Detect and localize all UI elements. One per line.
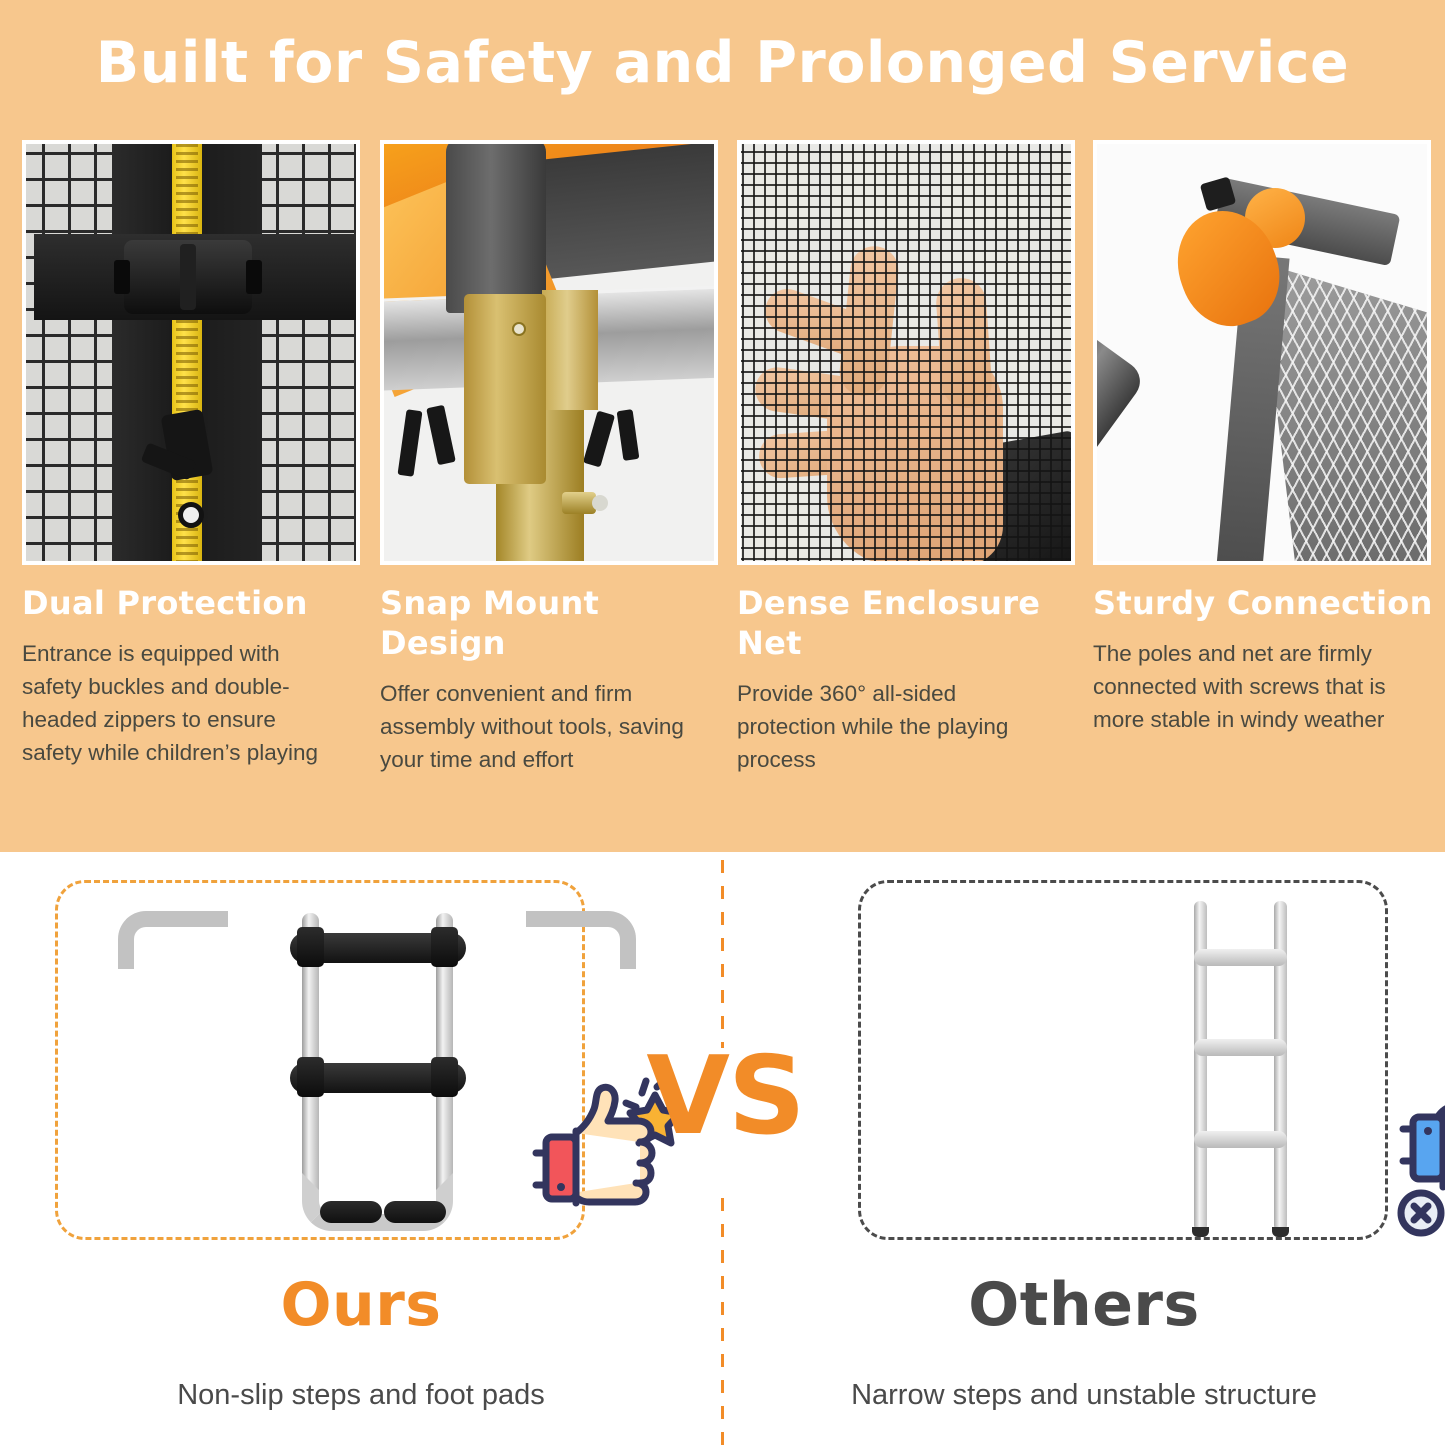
snap-bracket-back (542, 290, 598, 410)
thumbs-down-icon (1391, 1095, 1445, 1245)
ladder-foot-cap (1192, 1227, 1209, 1237)
feature-body: Offer convenient and firm assembly witho… (380, 677, 698, 776)
feature-photo-dense-net (737, 140, 1075, 565)
narrow-rung (1194, 949, 1287, 966)
others-caption: Narrow steps and unstable structure (723, 1379, 1445, 1412)
feature-body: Entrance is equipped with safety buckles… (22, 637, 340, 769)
bracket-screw (512, 322, 526, 336)
feature-card-dual-protection: Dual Protection Entrance is equipped wit… (22, 140, 367, 769)
safety-buckle (124, 240, 252, 314)
foam-pole-sleeve (446, 144, 546, 313)
trampoline-frame-arm-left (118, 911, 228, 969)
feature-card-snap-mount-design: Snap Mount Design Offer convenient and f… (380, 140, 725, 776)
feature-body: Provide 360° all-sided protection while … (737, 677, 1055, 776)
foot-pad (384, 1201, 446, 1223)
feature-photo-sturdy-connection (1093, 140, 1431, 565)
zipper-pull-hole (178, 502, 204, 528)
step-clamp (297, 1057, 324, 1097)
dense-mesh-pattern (741, 144, 1071, 561)
others-ladder-illustration (1156, 901, 1326, 1256)
ours-caption: Non-slip steps and foot pads (0, 1379, 722, 1412)
page-title: Built for Safety and Prolonged Service (0, 34, 1445, 94)
ours-ladder-illustration (248, 901, 508, 1256)
feature-title: Sturdy Connection (1093, 583, 1438, 623)
feature-title: Dense Enclosure Net (737, 583, 1082, 663)
narrow-rung (1194, 1131, 1287, 1148)
locking-bolt (562, 492, 596, 514)
ours-illustration-frame (55, 880, 585, 1240)
comparison-side-ours: VS Ours Non-slip steps and foot pads (0, 852, 722, 1445)
buckle-notch (180, 244, 196, 310)
narrow-rung (1194, 1039, 1287, 1056)
others-label: Others (723, 1270, 1445, 1340)
comparison-panel: VS Ours Non-slip steps and foot pads (0, 852, 1445, 1445)
feature-photo-snap-mount (380, 140, 718, 565)
step-clamp (297, 927, 324, 967)
zipper-teeth (176, 144, 198, 561)
feature-card-sturdy-connection: Sturdy Connection The poles and net are … (1093, 140, 1438, 736)
foot-pad (320, 1201, 382, 1223)
ladder-foot-cap (1272, 1227, 1289, 1237)
features-panel: Built for Safety and Prolonged Service (0, 0, 1445, 852)
infographic-page: Built for Safety and Prolonged Service (0, 0, 1445, 1445)
step-clamp (431, 927, 458, 967)
feature-photo-dual-protection (22, 140, 360, 565)
feature-card-dense-enclosure-net: Dense Enclosure Net Provide 360° all-sid… (737, 140, 1082, 776)
step-clamp (431, 1057, 458, 1097)
trampoline-frame-arm-right (526, 911, 636, 969)
feature-title: Dual Protection (22, 583, 367, 623)
feature-title: Snap Mount Design (380, 583, 725, 663)
comparison-side-others: Others Narrow steps and unstable structu… (723, 852, 1445, 1445)
ours-label: Ours (0, 1270, 722, 1340)
pad-underside (534, 144, 714, 281)
others-illustration-frame (858, 880, 1388, 1240)
vs-label: VS (630, 1037, 820, 1157)
feature-card-list: Dual Protection Entrance is equipped wit… (0, 140, 1445, 850)
feature-body: The poles and net are firmly connected w… (1093, 637, 1411, 736)
snap-bracket (464, 294, 546, 484)
